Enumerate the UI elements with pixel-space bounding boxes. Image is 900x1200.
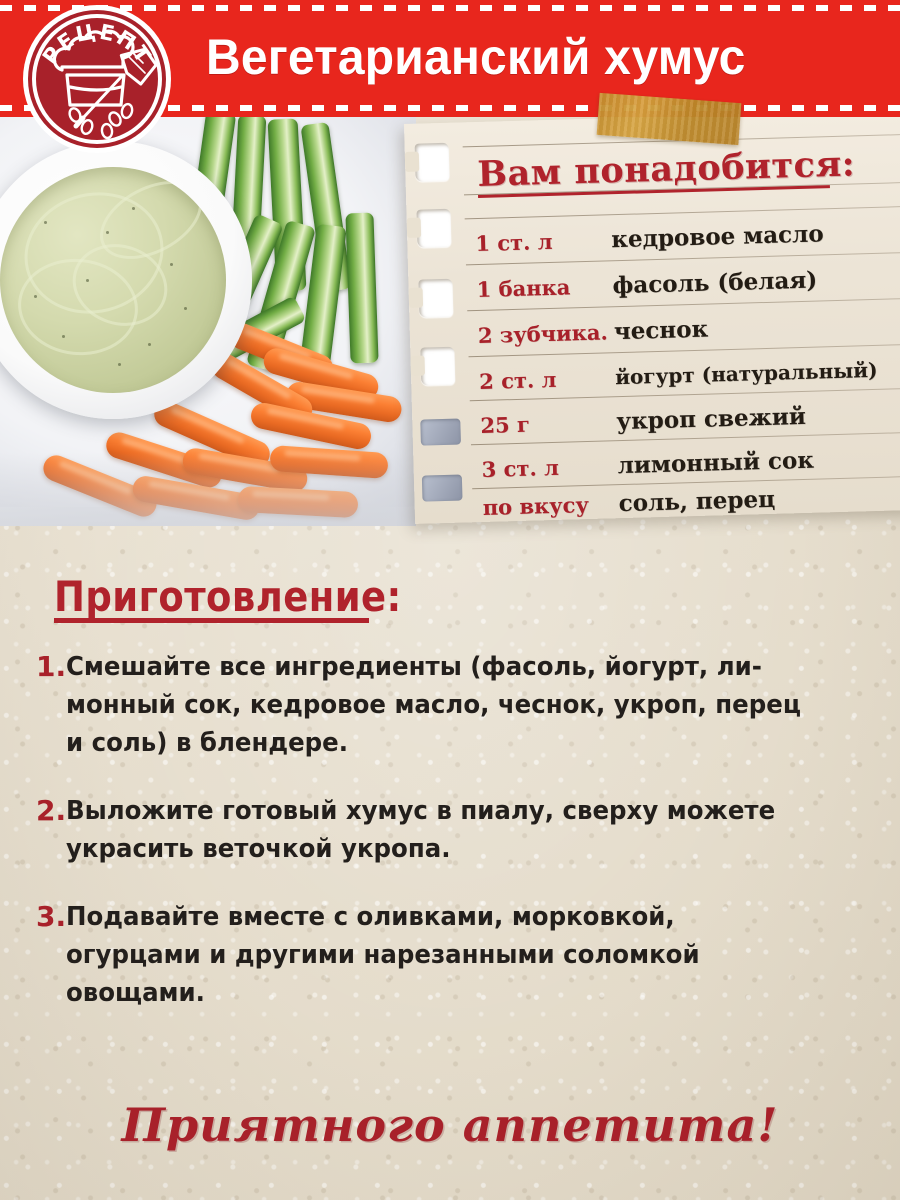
photo-bottom-shade [0, 117, 416, 526]
preparation-heading: Приготовление: [54, 572, 402, 621]
punch-hole [420, 347, 455, 386]
ingredient-name: укроп свежий [616, 399, 900, 435]
step-item: 1. Смешайте все ингредиенты (фасоль, йог… [36, 648, 864, 762]
ingredient-quantity: 2 ст. л [469, 365, 616, 394]
torn-edge [420, 419, 461, 446]
ingredient-quantity: 3 ст. л [471, 453, 618, 482]
punch-hole [418, 279, 453, 318]
ingredient-name: кедровое масло [611, 217, 900, 253]
ingredient-quantity: 25 г [470, 409, 617, 438]
step-text: Выложите готовый хумус в пиалу, сверху м… [66, 792, 816, 868]
punch-hole [416, 209, 451, 248]
step-number: 1. [36, 648, 66, 686]
step-item: 2. Выложите готовый хумус в пиалу, сверх… [36, 792, 864, 868]
ingredient-quantity: 2 зубчика. [468, 319, 615, 348]
ingredients-note: Вам понадобится: 1 ст. л кедровое масло … [404, 109, 900, 523]
ingredient-quantity: 1 банка [466, 273, 613, 302]
step-number: 3. [36, 898, 66, 936]
ingredient-name: соль, перец [618, 481, 900, 517]
ingredient-name: лимонный сок [617, 443, 900, 479]
torn-edge [422, 475, 463, 502]
ingredient-name: фасоль (белая) [612, 263, 900, 299]
preparation-steps: 1. Смешайте все ингредиенты (фасоль, йог… [36, 648, 864, 1042]
ingredient-quantity: 1 ст. л [465, 227, 612, 256]
recipe-card: Вам понадобится: 1 ст. л кедровое масло … [0, 0, 900, 1200]
bon-appetit-text: Приятного аппетита! [0, 1098, 900, 1152]
step-item: 3. Подавайте вместе с оливками, морковко… [36, 898, 864, 1012]
recipe-stamp-badge: РЕЦЕПТ [21, 3, 173, 155]
dish-photo [0, 117, 416, 526]
ingredient-name: йогурт (натуральный) [615, 356, 900, 389]
preparation-heading-underline [54, 618, 369, 623]
ingredient-quantity: по вкусу [472, 491, 619, 520]
step-text: Смешайте все ингредиенты (фасоль, йогурт… [66, 648, 816, 762]
note-punch-holes [406, 130, 469, 515]
page-title: Вегетарианский хумус [206, 26, 849, 88]
step-text: Подавайте вместе с оливками, морковкой, … [66, 898, 816, 1012]
ingredient-name: чеснок [613, 309, 900, 345]
punch-hole [415, 143, 450, 182]
step-number: 2. [36, 792, 66, 830]
